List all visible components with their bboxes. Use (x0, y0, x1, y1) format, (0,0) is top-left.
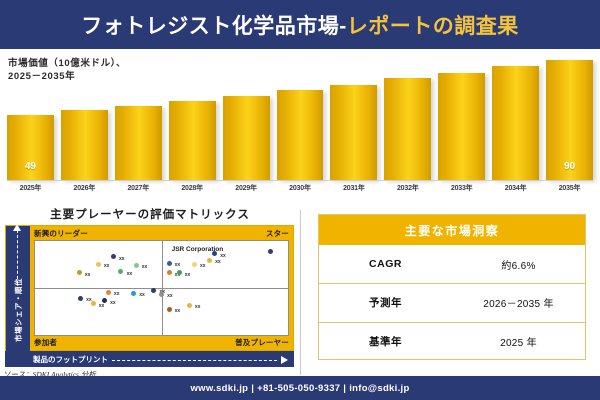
bar: 49 (7, 115, 54, 181)
x-axis-tick-label: 2026年 (61, 181, 108, 193)
insights-table-header: 主要な市場洞察 (319, 215, 585, 245)
matrix-x-axis-label: 製品のフットプリント (33, 354, 108, 365)
page-header: フォトレジスト化学品市場-レポートの調査果 (0, 0, 600, 49)
matrix-data-point-label: xx (139, 292, 145, 298)
matrix-data-point (102, 298, 107, 303)
matrix-data-point (167, 261, 172, 266)
bar (277, 90, 324, 180)
matrix-data-point (192, 262, 197, 267)
matrix-data-point (118, 269, 123, 274)
matrix-data-point (207, 258, 212, 263)
player-matrix-panel: 主要プレーヤーの評価マトリックス 市場シェア・順位 新興のリーダー スター 参加… (0, 203, 300, 375)
market-value-chart: 市場価値（10億米ドル）、 2025－2035年 4990 2025年2026年… (0, 49, 600, 201)
matrix-data-point-label: xx (175, 308, 181, 314)
chart-bars: 4990 (7, 53, 593, 180)
matrix-x-axis: 製品のフットプリント (5, 351, 294, 367)
matrix-data-point (91, 301, 96, 306)
matrix-data-point (77, 270, 82, 275)
matrix-data-point (212, 251, 217, 256)
x-axis-tick-label: 2025年 (7, 181, 54, 193)
page-title-main: フォトレジスト化学品市場- (81, 15, 347, 38)
x-axis-tick-label: 2028年 (169, 181, 216, 193)
bar (61, 110, 108, 180)
page-footer: www.sdki.jp | +81-505-050-9337 | info@sd… (0, 376, 600, 400)
panel-divider (300, 210, 301, 375)
bar-column (438, 53, 485, 180)
x-axis-tick-label: 2034年 (492, 181, 539, 193)
bar-value-label: 90 (546, 161, 593, 172)
chart-x-axis: 2025年2026年2027年2028年2029年2030年2031年2032年… (7, 180, 593, 194)
matrix-data-point (159, 292, 164, 297)
bar-column: 90 (546, 53, 593, 180)
insights-row-key: 予測年 (319, 295, 452, 310)
bar-column (277, 53, 324, 180)
bar-column: 49 (7, 53, 54, 180)
bar-column (61, 53, 108, 180)
x-axis-dashed-line (112, 360, 277, 361)
insights-table-title: 主要な市場洞察 (405, 222, 500, 239)
matrix-data-point-label: xx (85, 272, 91, 278)
matrix-data-point-label: xx (119, 256, 125, 262)
matrix-y-axis-label: 市場シェア・順位 (6, 250, 30, 342)
matrix-data-point-label: xx (195, 304, 201, 310)
bar-column (223, 53, 270, 180)
bar (115, 106, 162, 180)
matrix-quadrant-area: 新興のリーダー スター 参加者 普及プレーヤー JSR Corporation … (30, 226, 293, 350)
matrix-y-axis: 市場シェア・順位 (6, 226, 30, 352)
x-axis-tick-label: 2035年 (546, 181, 593, 193)
x-axis-tick-label: 2032年 (384, 181, 431, 193)
matrix-data-point (96, 262, 101, 267)
matrix-data-point-label: xx (175, 262, 181, 268)
report-infographic: フォトレジスト化学品市場-レポートの調査果 市場価値（10億米ドル）、 2025… (0, 0, 600, 400)
matrix-data-point (177, 270, 182, 275)
matrix-scatter-plot: JSR Corporation xxxxxxxxxxxxxxxxxxxxxxxx… (34, 240, 289, 336)
insights-row-key: CAGR (319, 258, 452, 270)
x-axis-tick-label: 2029年 (223, 181, 270, 193)
bar (384, 78, 431, 180)
insights-table-row: CAGR約6.6% (319, 245, 585, 283)
quadrant-label-bottom-left: 参加者 (34, 337, 57, 348)
x-axis-tick-label: 2031年 (330, 181, 377, 193)
matrix-data-point-label: xx (114, 291, 120, 297)
bar-column (384, 53, 431, 180)
matrix-data-point (187, 303, 192, 308)
insights-row-key: 基準年 (319, 334, 452, 349)
matrix-data-point-label: xx (185, 272, 191, 278)
quadrant-label-top-right: スター (266, 228, 289, 239)
matrix-data-point (131, 291, 136, 296)
insights-row-value: 約6.6% (452, 257, 585, 272)
footer-contact-text: www.sdki.jp | +81-505-050-9337 | info@sd… (190, 383, 409, 394)
matrix-data-point-label: xx (104, 263, 110, 269)
matrix-data-point (134, 263, 139, 268)
matrix-title: 主要プレーヤーの評価マトリックス (0, 203, 300, 222)
quadrant-label-bottom-right: 普及プレーヤー (235, 337, 289, 348)
bar: 90 (546, 60, 593, 180)
matrix-data-point-label: xx (220, 253, 226, 259)
bar-value-label: 49 (7, 161, 54, 172)
page-title: フォトレジスト化学品市場-レポートの調査果 (81, 10, 519, 40)
matrix-highlight-data-point (268, 249, 273, 254)
key-market-insights-table: 主要な市場洞察 CAGR約6.6%予測年2026－2035 年基準年2025 年 (318, 214, 586, 360)
x-axis-tick-label: 2027年 (115, 181, 162, 193)
insights-table-row: 基準年2025 年 (319, 322, 585, 360)
matrix-data-point (78, 296, 83, 301)
matrix-data-point-label: xx (142, 264, 148, 270)
matrix-data-point (106, 290, 111, 295)
matrix-data-point-label: xx (167, 293, 173, 299)
insights-row-value: 2025 年 (452, 334, 585, 349)
x-axis-tick-label: 2030年 (277, 181, 324, 193)
matrix-data-point (111, 254, 116, 259)
bar (492, 66, 539, 180)
matrix-data-point (167, 270, 172, 275)
matrix-data-point-label: xx (110, 300, 116, 306)
bar-column (330, 53, 377, 180)
x-axis-tick-label: 2033年 (438, 181, 485, 193)
quadrant-label-top-left: 新興のリーダー (34, 228, 88, 239)
bar-column (115, 53, 162, 180)
matrix-data-point-label: xx (99, 303, 105, 309)
bar-column (169, 53, 216, 180)
page-title-accent: レポートの調査果 (347, 15, 519, 38)
matrix-frame: 市場シェア・順位 新興のリーダー スター 参加者 普及プレーヤー JSR Cor… (5, 225, 294, 351)
insights-table-body: CAGR約6.6%予測年2026－2035 年基準年2025 年 (319, 245, 585, 360)
insights-row-value: 2026－2035 年 (452, 295, 585, 310)
matrix-data-point (167, 307, 172, 312)
bar-column (492, 53, 539, 180)
matrix-data-point (151, 288, 156, 293)
insights-table-row: 予測年2026－2035 年 (319, 283, 585, 321)
right-arrow-icon (281, 356, 288, 364)
bar (438, 73, 485, 180)
chart-plot-area: 4990 (7, 53, 593, 180)
bar (169, 101, 216, 180)
matrix-data-point-label: xx (200, 263, 206, 269)
bar (223, 96, 270, 180)
bar (330, 85, 377, 180)
matrix-data-point-label: xx (127, 271, 133, 277)
matrix-data-point-label: xx (215, 259, 221, 265)
